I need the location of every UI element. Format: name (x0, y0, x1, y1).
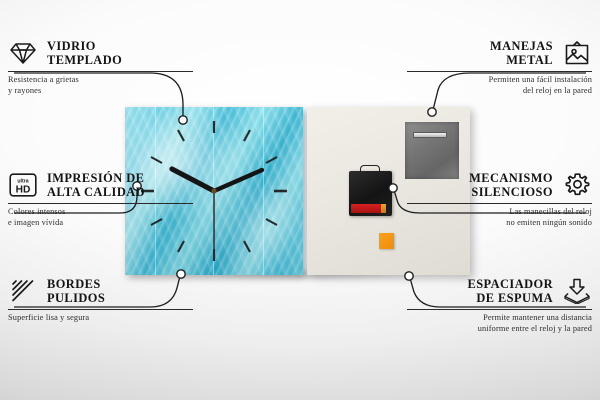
feature-divider (8, 71, 193, 72)
feature-subtitle: Las manecillas del reloj no emiten ningú… (407, 207, 592, 229)
feature-divider (8, 309, 193, 310)
feature-header: BORDES PULIDOS (8, 276, 193, 306)
ultra-hd-icon: ultra HD (8, 170, 38, 200)
feature-divider (407, 203, 592, 204)
gear-icon (562, 170, 592, 200)
feature-header: ultra HD IMPRESIÓN DE ALTA CALIDAD (8, 170, 193, 200)
feature-divider (407, 309, 592, 310)
feature-header: MANEJAS METAL (407, 38, 592, 68)
polished-edges-icon (8, 276, 38, 306)
battery (351, 204, 386, 214)
feature-header: VIDRIO TEMPLADO (8, 38, 193, 68)
feature-title: ESPACIADOR DE ESPUMA (467, 277, 553, 306)
feature-mecanismo-silencioso[interactable]: MECANISMO SILENCIOSO Las manecillas del … (407, 170, 592, 229)
feature-subtitle: Superficie lisa y segura (8, 313, 193, 324)
layer-down-arrow-icon (562, 276, 592, 306)
feature-title: VIDRIO TEMPLADO (47, 39, 122, 68)
foam-spacer (379, 233, 394, 249)
feature-espaciador-espuma[interactable]: ESPACIADOR DE ESPUMA Permite mantener un… (407, 276, 592, 335)
feature-header: ESPACIADOR DE ESPUMA (407, 276, 592, 306)
hanger-slot (413, 132, 446, 138)
battery-cap (381, 204, 386, 214)
feature-impresion-alta-calidad[interactable]: ultra HD IMPRESIÓN DE ALTA CALIDAD Color… (8, 170, 193, 229)
feature-vidrio-templado[interactable]: VIDRIO TEMPLADO Resistencia a grietas y … (8, 38, 193, 97)
clock-mechanism (349, 171, 391, 216)
feature-title: MANEJAS METAL (490, 39, 553, 68)
feature-subtitle: Permite mantener una distancia uniforme … (407, 313, 592, 335)
picture-frame-icon (562, 38, 592, 68)
feature-bordes-pulidos[interactable]: BORDES PULIDOS Superficie lisa y segura (8, 276, 193, 324)
feature-subtitle: Colores intensos e imagen vívida (8, 207, 193, 229)
feature-title: MECANISMO SILENCIOSO (469, 171, 553, 200)
feature-divider (8, 203, 193, 204)
diamond-icon (8, 38, 38, 68)
feature-subtitle: Resistencia a grietas y rayones (8, 75, 193, 97)
feature-title: IMPRESIÓN DE ALTA CALIDAD (47, 171, 145, 200)
svg-text:HD: HD (16, 184, 31, 195)
mechanism-hanger-loop (360, 165, 379, 172)
infographic-canvas: VIDRIO TEMPLADO Resistencia a grietas y … (0, 0, 600, 400)
feature-title: BORDES PULIDOS (47, 277, 105, 306)
feature-manejas-metal[interactable]: MANEJAS METAL Permiten una fácil instala… (407, 38, 592, 97)
feature-header: MECANISMO SILENCIOSO (407, 170, 592, 200)
feature-divider (407, 71, 592, 72)
feature-subtitle: Permiten una fácil instalación del reloj… (407, 75, 592, 97)
